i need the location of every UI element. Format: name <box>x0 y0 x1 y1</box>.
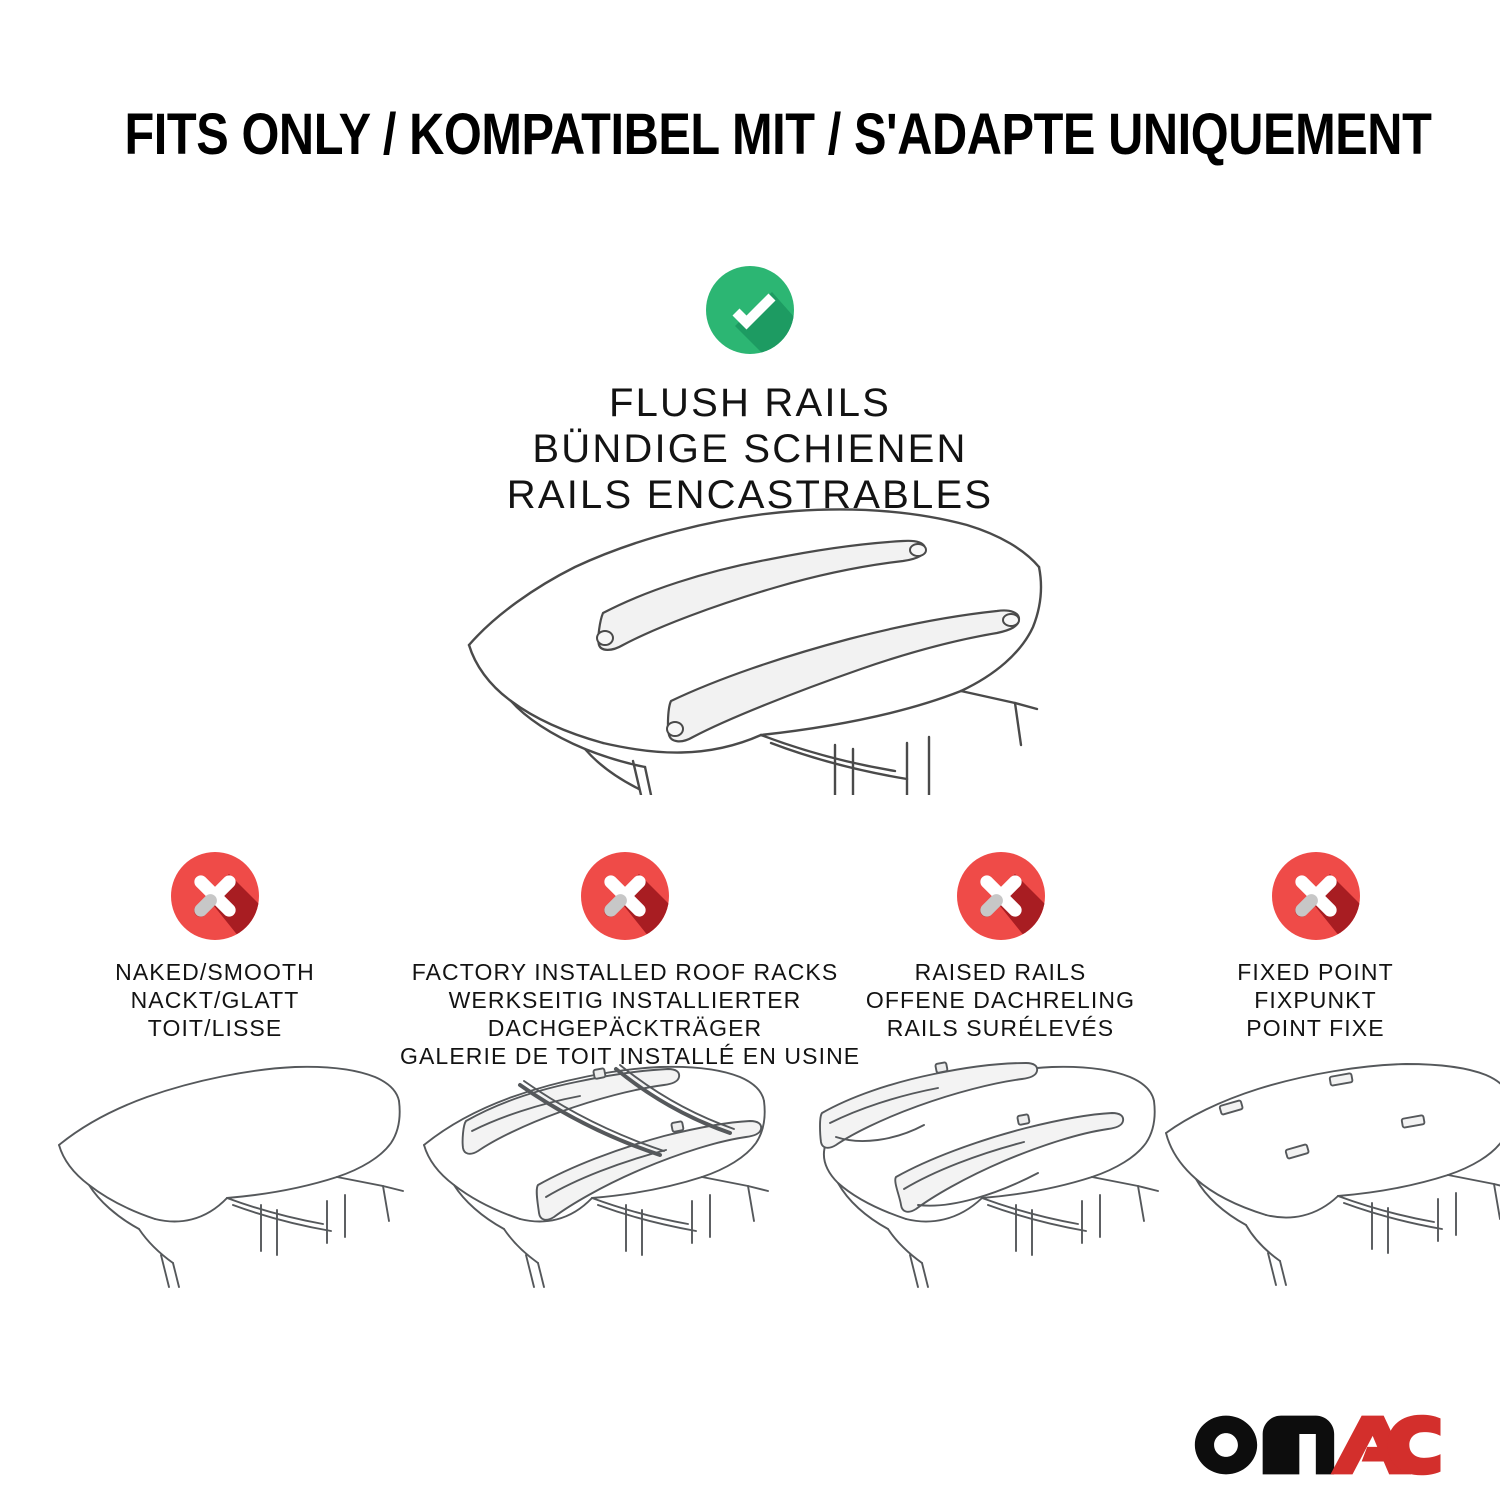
reject-column-naked-smooth: NAKED/SMOOTH NACKT/GLATT TOIT/LISSE <box>45 848 385 1042</box>
car-roof-factory-roof-racks-illustration <box>420 1055 790 1290</box>
reject-label-group: RAISED RAILS OFFENE DACHRELING RAILS SUR… <box>848 958 1153 1042</box>
approved-label-en: FLUSH RAILS <box>0 380 1500 426</box>
reject-label-en: RAISED RAILS <box>848 958 1153 986</box>
page-title-bar: FITS ONLY / KOMPATIBEL MIT / S'ADAPTE UN… <box>0 104 1500 166</box>
reject-label-group: NAKED/SMOOTH NACKT/GLATT TOIT/LISSE <box>45 958 385 1042</box>
reject-label-group: FIXED POINT FIXPUNKT POINT FIXE <box>1168 958 1463 1042</box>
logo-letter-o <box>1195 1416 1257 1475</box>
reject-label-group: FACTORY INSTALLED ROOF RACKS WERKSEITIG … <box>400 958 850 1070</box>
reject-label-fr: RAILS SURÉLEVÉS <box>848 1014 1153 1042</box>
logo-letter-m <box>1262 1416 1333 1475</box>
reject-column-factory-roof-racks: FACTORY INSTALLED ROOF RACKS WERKSEITIG … <box>400 848 850 1070</box>
approved-fitment-block: FLUSH RAILS BÜNDIGE SCHIENEN RAILS ENCAS… <box>0 262 1500 518</box>
approved-label-de: BÜNDIGE SCHIENEN <box>0 426 1500 472</box>
reject-column-raised-rails: RAISED RAILS OFFENE DACHRELING RAILS SUR… <box>848 848 1153 1042</box>
reject-label-de: NACKT/GLATT <box>45 986 385 1014</box>
fitment-compatibility-infographic: FITS ONLY / KOMPATIBEL MIT / S'ADAPTE UN… <box>0 0 1500 1500</box>
reject-label-de-line1: WERKSEITIG INSTALLIERTER <box>400 986 850 1014</box>
red-cross-circle-icon <box>167 848 263 944</box>
reject-label-de: FIXPUNKT <box>1168 986 1463 1014</box>
rejected-fitment-row: NAKED/SMOOTH NACKT/GLATT TOIT/LISSE <box>0 848 1500 1088</box>
omac-logo: OMAC <box>1193 1412 1442 1478</box>
roof-type-illustration-row <box>0 1055 1500 1295</box>
green-check-circle-icon <box>702 262 798 358</box>
reject-label-de-line2: DACHGEPÄCKTRÄGER <box>400 1014 850 1042</box>
reject-label-de: OFFENE DACHRELING <box>848 986 1153 1014</box>
reject-label-fr: POINT FIXE <box>1168 1014 1463 1042</box>
page-title: FITS ONLY / KOMPATIBEL MIT / S'ADAPTE UN… <box>124 104 1431 166</box>
reject-label-fr: TOIT/LISSE <box>45 1014 385 1042</box>
car-roof-fixed-point-illustration <box>1160 1055 1500 1290</box>
red-cross-circle-icon <box>1268 848 1364 944</box>
red-cross-circle-icon <box>577 848 673 944</box>
reject-column-fixed-point: FIXED POINT FIXPUNKT POINT FIXE <box>1168 848 1463 1042</box>
reject-label-en: FACTORY INSTALLED ROOF RACKS <box>400 958 850 986</box>
reject-label-en: NAKED/SMOOTH <box>45 958 385 986</box>
car-roof-raised-rails-illustration <box>800 1055 1170 1290</box>
red-cross-circle-icon <box>953 848 1049 944</box>
logo-text: OMAC <box>1193 1412 1237 1416</box>
reject-label-en: FIXED POINT <box>1168 958 1463 986</box>
car-roof-naked-smooth-illustration <box>55 1055 425 1290</box>
car-roof-with-flush-rails-illustration <box>455 495 1065 795</box>
